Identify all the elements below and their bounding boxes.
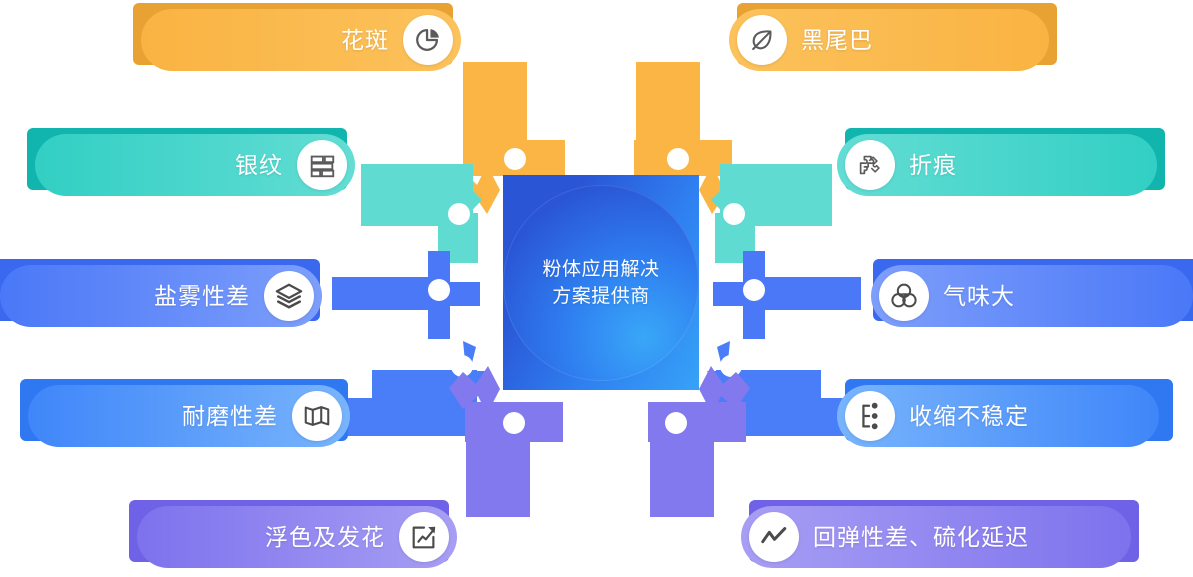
- node-heiweiba-label: 黑尾巴: [801, 9, 873, 71]
- node-huaban[interactable]: 花斑: [141, 9, 461, 71]
- node-huaban-label: 花斑: [341, 9, 389, 71]
- node-huitanxingcha-label: 回弹性差、硫化延迟: [813, 506, 1029, 568]
- node-qiweida[interactable]: 气味大: [871, 265, 1193, 327]
- node-shousuobuwending[interactable]: 收缩不稳定: [837, 385, 1159, 447]
- connector-node-yanwuxingcha: [332, 251, 480, 339]
- center-hub-label: 粉体应用解决 方案提供商: [506, 256, 696, 310]
- puzzle-piece-icon: [845, 140, 895, 190]
- node-fusejifahua[interactable]: 浮色及发花: [137, 506, 457, 568]
- node-yanwuxingcha-label: 盐雾性差: [154, 265, 250, 327]
- diagram-canvas: 粉体应用解决 方案提供商 花斑 黑尾巴 银纹: [0, 0, 1193, 577]
- node-huitanxingcha[interactable]: 回弹性差、硫化延迟: [741, 506, 1131, 568]
- node-heiweiba[interactable]: 黑尾巴: [729, 9, 1049, 71]
- node-yinwen[interactable]: 银纹: [35, 134, 355, 196]
- connector-node-naimoxingcha: [336, 341, 486, 436]
- recycle-icon: [879, 271, 929, 321]
- connector-node-qiweida: [713, 251, 861, 339]
- leaf-icon: [737, 15, 787, 65]
- node-zhehen[interactable]: 折痕: [837, 134, 1157, 196]
- connector-node-shousuobuwending: [707, 341, 857, 436]
- pie-chart-icon: [403, 15, 453, 65]
- node-naimoxingcha[interactable]: 耐磨性差: [28, 385, 350, 447]
- node-shousuobuwending-label: 收缩不稳定: [909, 385, 1029, 447]
- chart-arrow-up-icon: [399, 512, 449, 562]
- node-naimoxingcha-label: 耐磨性差: [182, 385, 278, 447]
- connector-node-yinwen: [361, 164, 482, 263]
- node-fusejifahua-label: 浮色及发花: [265, 506, 385, 568]
- brick-wall-icon: [297, 140, 347, 190]
- line-chart-icon: [749, 512, 799, 562]
- sitemap-icon: [845, 391, 895, 441]
- node-zhehen-label: 折痕: [909, 134, 957, 196]
- node-yanwuxingcha[interactable]: 盐雾性差: [0, 265, 322, 327]
- connector-node-zhehen: [711, 164, 832, 263]
- open-book-icon: [292, 391, 342, 441]
- center-hub: 粉体应用解决 方案提供商: [503, 175, 699, 390]
- layers-icon: [264, 271, 314, 321]
- node-qiweida-label: 气味大: [943, 265, 1015, 327]
- node-yinwen-label: 银纹: [235, 134, 283, 196]
